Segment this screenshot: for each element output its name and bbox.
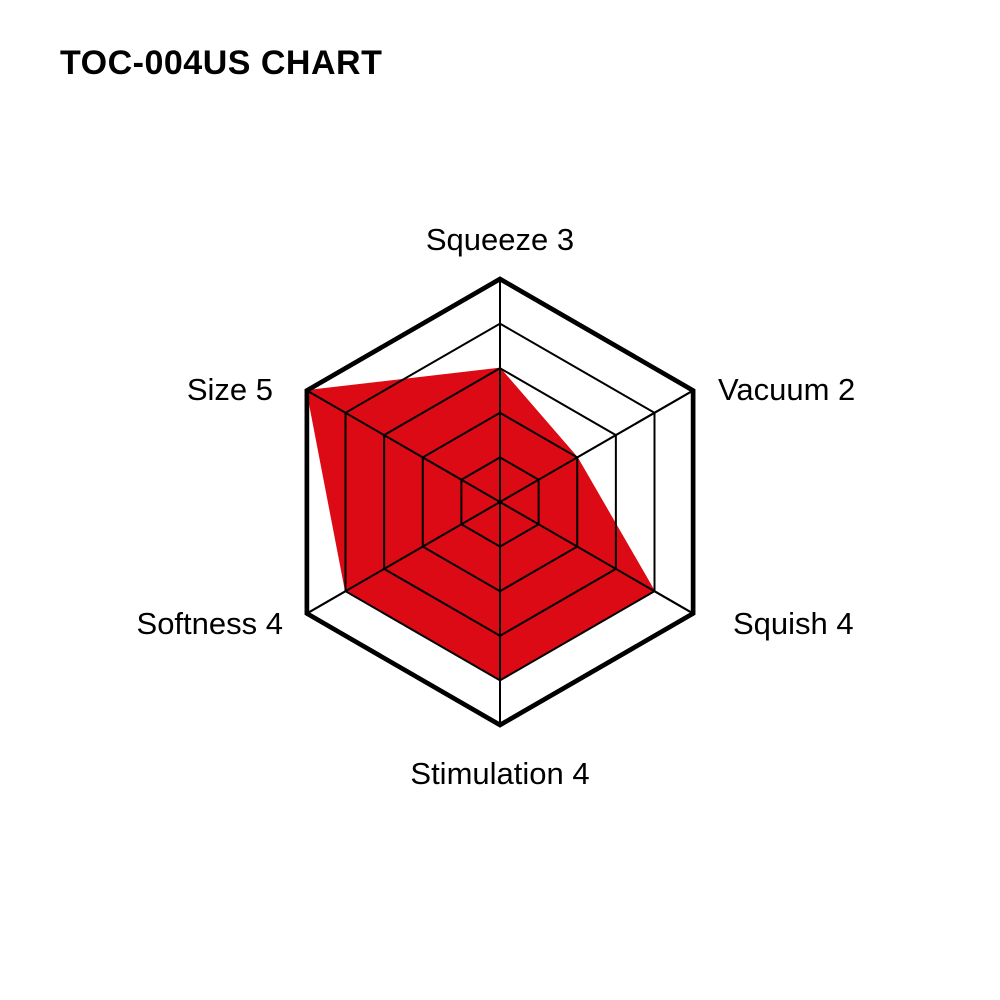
axis-label-vacuum: Vacuum 2	[718, 372, 855, 407]
axis-label-size: Size 5	[187, 372, 273, 407]
axis-label-squeeze: Squeeze 3	[426, 222, 574, 257]
axis-label-stimulation: Stimulation 4	[410, 756, 589, 791]
axis-label-softness: Softness 4	[137, 606, 283, 641]
chart-page: TOC-004US CHART Squeeze 3Vacuum 2Squish …	[0, 0, 1000, 1000]
radar-chart: Squeeze 3Vacuum 2Squish 4Stimulation 4So…	[0, 0, 1000, 1000]
axis-label-squish: Squish 4	[733, 606, 854, 641]
